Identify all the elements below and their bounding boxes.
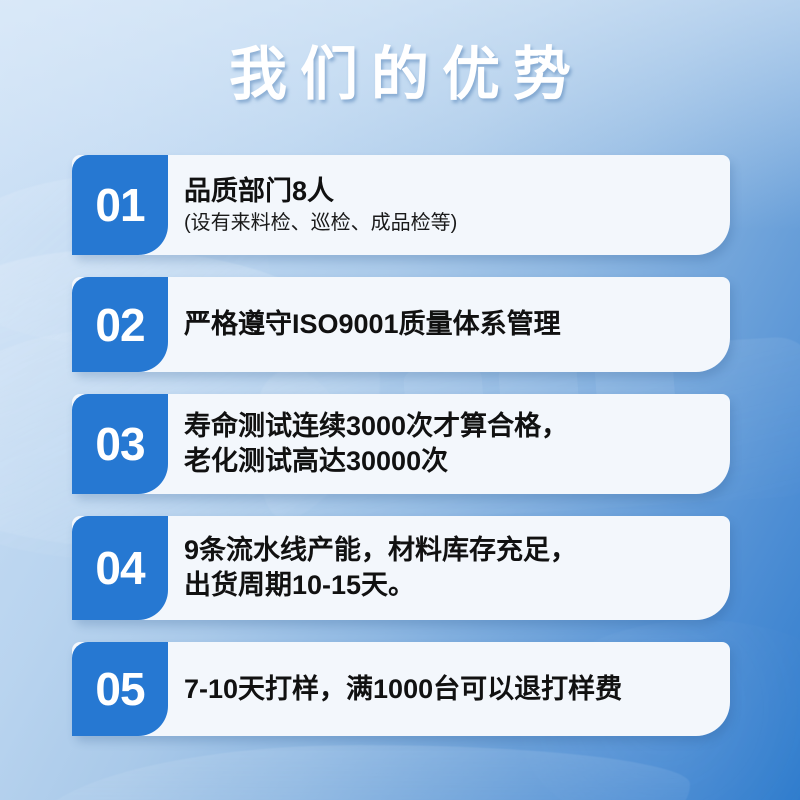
advantage-body-02: 严格遵守ISO9001质量体系管理: [168, 277, 730, 372]
advantage-title-03: 寿命测试连续3000次才算合格， 老化测试高达30000次: [184, 409, 712, 478]
advantages-poster: 我们的优势 01 品质部门8人 (设有来料检、巡检、成品检等) 02 严格遵守I…: [0, 0, 800, 800]
advantage-number-03: 03: [72, 394, 168, 494]
advantages-list: 01 品质部门8人 (设有来料检、巡检、成品检等) 02 严格遵守ISO9001…: [72, 155, 730, 758]
advantage-body-04: 9条流水线产能，材料库存充足， 出货周期10-15天。: [168, 516, 730, 620]
advantage-number-01: 01: [72, 155, 168, 255]
advantage-title-04: 9条流水线产能，材料库存充足， 出货周期10-15天。: [184, 533, 712, 602]
advantage-subtitle-01: (设有来料检、巡检、成品检等): [184, 210, 712, 236]
advantage-title-02: 严格遵守ISO9001质量体系管理: [184, 307, 712, 342]
advantage-body-03: 寿命测试连续3000次才算合格， 老化测试高达30000次: [168, 394, 730, 494]
advantage-card-04[interactable]: 04 9条流水线产能，材料库存充足， 出货周期10-15天。: [72, 516, 730, 620]
advantage-number-05: 05: [72, 642, 168, 736]
advantage-card-05[interactable]: 05 7-10天打样，满1000台可以退打样费: [72, 642, 730, 736]
advantage-title-05: 7-10天打样，满1000台可以退打样费: [184, 672, 712, 707]
advantage-number-04: 04: [72, 516, 168, 620]
advantage-body-01: 品质部门8人 (设有来料检、巡检、成品检等): [168, 155, 730, 255]
advantage-body-05: 7-10天打样，满1000台可以退打样费: [168, 642, 730, 736]
advantage-card-01[interactable]: 01 品质部门8人 (设有来料检、巡检、成品检等): [72, 155, 730, 255]
advantage-card-03[interactable]: 03 寿命测试连续3000次才算合格， 老化测试高达30000次: [72, 394, 730, 494]
page-title: 我们的优势: [0, 42, 800, 109]
advantage-number-02: 02: [72, 277, 168, 372]
advantage-card-02[interactable]: 02 严格遵守ISO9001质量体系管理: [72, 277, 730, 372]
advantage-title-01: 品质部门8人: [184, 174, 712, 209]
